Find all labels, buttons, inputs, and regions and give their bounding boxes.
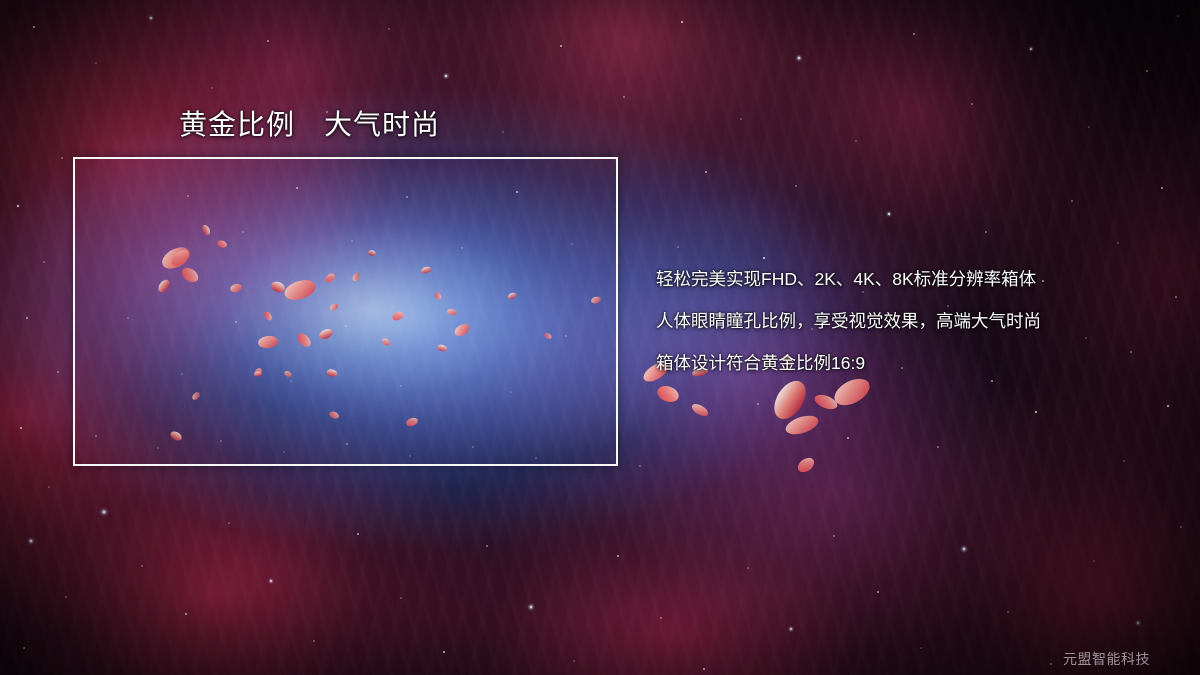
watermark: 元盟智能科技 (1063, 649, 1150, 669)
body-copy-line-2: 人体眼睛瞳孔比例，享受视觉效果，高端大气时尚 (656, 300, 1176, 342)
body-copy-line-1: 轻松完美实现FHD、2K、4K、8K标准分辨率箱体 (656, 258, 1176, 300)
preview-frame (73, 157, 618, 466)
slide-canvas: 黄金比例 大气时尚 轻松完美实现FHD、2K、4K、8K标准分辨率箱体 人体眼睛… (0, 0, 1200, 675)
body-copy: 轻松完美实现FHD、2K、4K、8K标准分辨率箱体 人体眼睛瞳孔比例，享受视觉效… (656, 258, 1176, 384)
page-title: 黄金比例 大气时尚 (179, 103, 440, 143)
body-copy-line-3: 箱体设计符合黄金比例16:9 (656, 342, 1176, 384)
